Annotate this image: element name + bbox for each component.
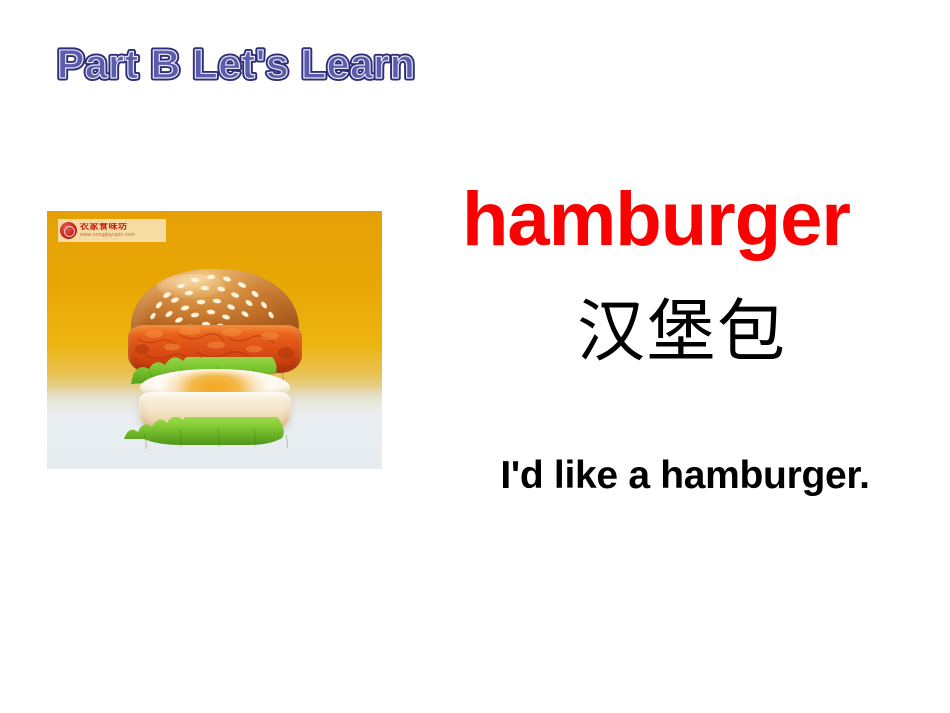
burger-illustration [120, 261, 310, 451]
page-title: Part B Let's Learn Part B Let's Learn Pa… [55, 38, 455, 92]
vocabulary-chinese-word: 汉堡包 [462, 296, 902, 371]
lettuce-garnish [122, 417, 308, 451]
slide-canvas: Part B Let's Learn Part B Let's Learn Pa… [0, 0, 950, 713]
photo-watermark: 农家食味坊 www.nongjiayupin.com [58, 219, 166, 242]
watermark-texts: 农家食味坊 www.nongjiayupin.com [80, 223, 135, 238]
watermark-chinese-text: 农家食味坊 [80, 223, 135, 232]
title-highlight-layer: Part B Let's Learn [57, 41, 415, 87]
vocabulary-english-word: hamburger [462, 182, 902, 258]
watermark-url-text: www.nongjiayupin.com [80, 233, 135, 238]
hamburger-photo: 农家食味坊 www.nongjiayupin.com [47, 211, 382, 469]
watermark-logo-icon [60, 222, 77, 239]
example-sentence: I'd like a hamburger. [450, 454, 920, 499]
